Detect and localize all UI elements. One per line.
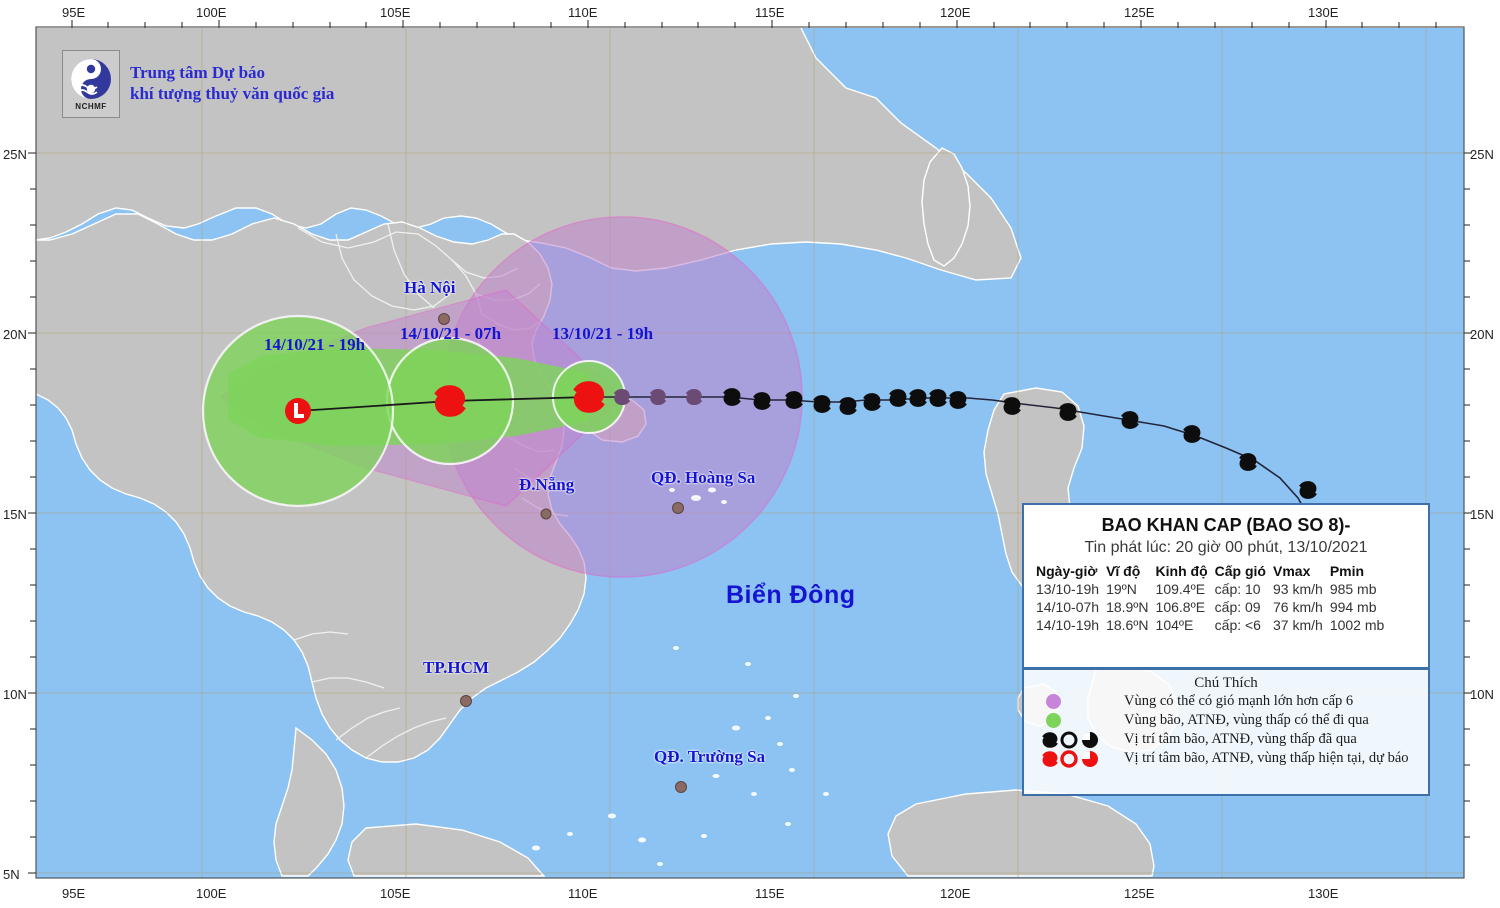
lon-tick-95e: 95E	[62, 5, 85, 20]
storm-track-map-screenshot: Biển Đông Hà Nội Đ.Nẵng TP.HCM QĐ. Hoàng…	[0, 0, 1500, 908]
city-label-da-nang: Đ.Nẵng	[519, 475, 574, 495]
violet-circle-icon	[1046, 694, 1061, 709]
lat-tick-25n: 25N	[3, 147, 27, 162]
storm-info-panel: BAO KHAN CAP (BAO SO 8)- Tin phát lúc: 2…	[1022, 503, 1430, 669]
nchmf-logo-mark: NCHMF	[62, 50, 120, 118]
table-row: 14/10-19h 18.6ºN 104ºE cấp: <6 37 km/h 1…	[1036, 616, 1391, 634]
legend-icons-past-positions	[1038, 731, 1124, 749]
storm-info-title: BAO KHAN CAP (BAO SO 8)-	[1024, 515, 1428, 536]
cell-wind-level: cấp: 09	[1215, 598, 1273, 616]
nchmf-logo: NCHMF Trung tâm Dự báo khí tượng thuỷ vă…	[62, 50, 334, 118]
lon-tick-bottom-110e: 110E	[568, 886, 597, 901]
legend-title: Chú Thích	[1024, 675, 1428, 692]
cell-pmin: 994 mb	[1330, 598, 1391, 616]
forecast-time-label-14-10-07h: 14/10/21 - 07h	[400, 324, 501, 344]
storm-symbol-13-10-19h[interactable]	[573, 381, 605, 413]
storm-symbol-14-10-07h[interactable]	[434, 385, 466, 417]
lon-tick-bottom-105e: 105E	[380, 886, 410, 901]
lon-tick-115e: 115E	[755, 5, 784, 20]
col-wind-level: Cấp gió	[1215, 563, 1273, 580]
storm-info-issued-time: Tin phát lúc: 20 giờ 00 phút, 13/10/2021	[1024, 539, 1428, 557]
nchmf-logo-acronym: NCHMF	[75, 102, 106, 111]
lon-tick-bottom-100e: 100E	[196, 886, 226, 901]
table-header-row: Ngày-giờ Vĩ độ Kinh độ Cấp gió Vmax Pmin	[1036, 563, 1391, 580]
city-label-tp-hcm: TP.HCM	[423, 658, 489, 678]
legend-icons-track-zone	[1038, 713, 1124, 728]
lat-tick-15n: 15N	[3, 507, 27, 522]
black-storm-symbols-icon	[1038, 731, 1116, 749]
axis-right: 25N 20N 15N 10N	[1464, 0, 1500, 908]
table-row: 14/10-07h 18.9ºN 106.8ºE cấp: 09 76 km/h…	[1036, 598, 1391, 616]
legend-label-past-positions: Vị trí tâm bão, ATNĐ, vùng thấp đã qua	[1124, 731, 1357, 748]
cell-longitude: 106.8ºE	[1156, 598, 1215, 616]
lon-tick-bottom-125e: 125E	[1124, 886, 1154, 901]
col-latitude: Vĩ độ	[1106, 563, 1155, 580]
legend-item-wind-zone: Vùng có thể có gió mạnh lớn hơn cấp 6	[1024, 692, 1428, 711]
cell-latitude: 18.9ºN	[1106, 598, 1155, 616]
cell-longitude: 104ºE	[1156, 616, 1215, 634]
legend-icons-wind-zone	[1038, 694, 1124, 709]
logo-line-1: Trung tâm Dự báo	[130, 63, 334, 84]
legend-label-current-positions: Vị trí tâm bão, ATNĐ, vùng thấp hiện tại…	[1124, 750, 1409, 767]
lon-tick-bottom-95e: 95E	[62, 886, 85, 901]
cell-vmax: 93 km/h	[1273, 580, 1330, 598]
city-label-ha-noi: Hà Nội	[404, 278, 455, 298]
cell-wind-level: cấp: 10	[1215, 580, 1273, 598]
cell-date-time: 14/10-19h	[1036, 616, 1106, 634]
lat-tick-10n: 10N	[3, 687, 27, 702]
low-symbol-14-10-19h[interactable]	[285, 398, 311, 424]
city-label-truong-sa: QĐ. Trường Sa	[654, 747, 765, 767]
storm-forecast-table: Ngày-giờ Vĩ độ Kinh độ Cấp gió Vmax Pmin…	[1036, 563, 1391, 634]
nchmf-logo-text: Trung tâm Dự báo khí tượng thuỷ văn quốc…	[130, 63, 334, 104]
axis-left: 25N 20N 15N 10N 5N	[0, 0, 36, 908]
lat-tick-5n: 5N	[3, 867, 20, 882]
forecast-time-label-14-10-19h: 14/10/21 - 19h	[264, 335, 365, 355]
axis-bottom: 95E 100E 105E 110E 115E 120E 125E 130E	[0, 878, 1500, 908]
legend-label-track-zone: Vùng bão, ATNĐ, vùng thấp có thể đi qua	[1124, 712, 1369, 729]
cell-pmin: 1002 mb	[1330, 616, 1391, 634]
legend-item-track-zone: Vùng bão, ATNĐ, vùng thấp có thể đi qua	[1024, 711, 1428, 730]
nchmf-emblem-icon	[69, 57, 113, 101]
lon-tick-bottom-120e: 120E	[940, 886, 970, 901]
cell-vmax: 76 km/h	[1273, 598, 1330, 616]
cell-date-time: 13/10-19h	[1036, 580, 1106, 598]
col-vmax: Vmax	[1273, 563, 1330, 580]
legend-panel: Chú Thích Vùng có thể có gió mạnh lớn hơ…	[1022, 668, 1430, 796]
sea-label-bien-dong: Biển Đông	[726, 581, 856, 610]
cell-vmax: 37 km/h	[1273, 616, 1330, 634]
cell-pmin: 985 mb	[1330, 580, 1391, 598]
cell-date-time: 14/10-07h	[1036, 598, 1106, 616]
cell-wind-level: cấp: <6	[1215, 616, 1273, 634]
city-label-hoang-sa: QĐ. Hoàng Sa	[651, 468, 755, 488]
lat-tick-20n: 20N	[3, 327, 27, 342]
col-date-time: Ngày-giờ	[1036, 563, 1106, 580]
lat-tick-right-15n: 15N	[1470, 507, 1494, 522]
lat-tick-right-20n: 20N	[1470, 327, 1494, 342]
table-row: 13/10-19h 19ºN 109.4ºE cấp: 10 93 km/h 9…	[1036, 580, 1391, 598]
logo-line-2: khí tượng thuỷ văn quốc gia	[130, 84, 334, 105]
lon-tick-100e: 100E	[196, 5, 226, 20]
legend-icons-current-positions	[1038, 750, 1124, 768]
cell-latitude: 18.6ºN	[1106, 616, 1155, 634]
col-longitude: Kinh độ	[1156, 563, 1215, 580]
cell-longitude: 109.4ºE	[1156, 580, 1215, 598]
col-pmin: Pmin	[1330, 563, 1391, 580]
lon-tick-bottom-130e: 130E	[1308, 886, 1338, 901]
cell-latitude: 19ºN	[1106, 580, 1155, 598]
lon-tick-110e: 110E	[568, 5, 597, 20]
lon-tick-130e: 130E	[1308, 5, 1338, 20]
legend-label-wind-zone: Vùng có thể có gió mạnh lớn hơn cấp 6	[1124, 693, 1353, 710]
axis-top: 95E 100E 105E 110E 115E 120E 125E 130E	[0, 0, 1500, 28]
red-storm-symbols-icon	[1038, 750, 1116, 768]
lon-tick-125e: 125E	[1124, 5, 1154, 20]
lon-tick-120e: 120E	[940, 5, 970, 20]
lon-tick-105e: 105E	[380, 5, 410, 20]
lat-tick-right-25n: 25N	[1470, 147, 1494, 162]
legend-item-current-positions: Vị trí tâm bão, ATNĐ, vùng thấp hiện tại…	[1024, 749, 1428, 768]
forecast-time-label-13-10-19h: 13/10/21 - 19h	[552, 324, 653, 344]
green-circle-icon	[1046, 713, 1061, 728]
lat-tick-right-10n: 10N	[1470, 687, 1494, 702]
lon-tick-bottom-115e: 115E	[755, 886, 784, 901]
legend-item-past-positions: Vị trí tâm bão, ATNĐ, vùng thấp đã qua	[1024, 730, 1428, 749]
